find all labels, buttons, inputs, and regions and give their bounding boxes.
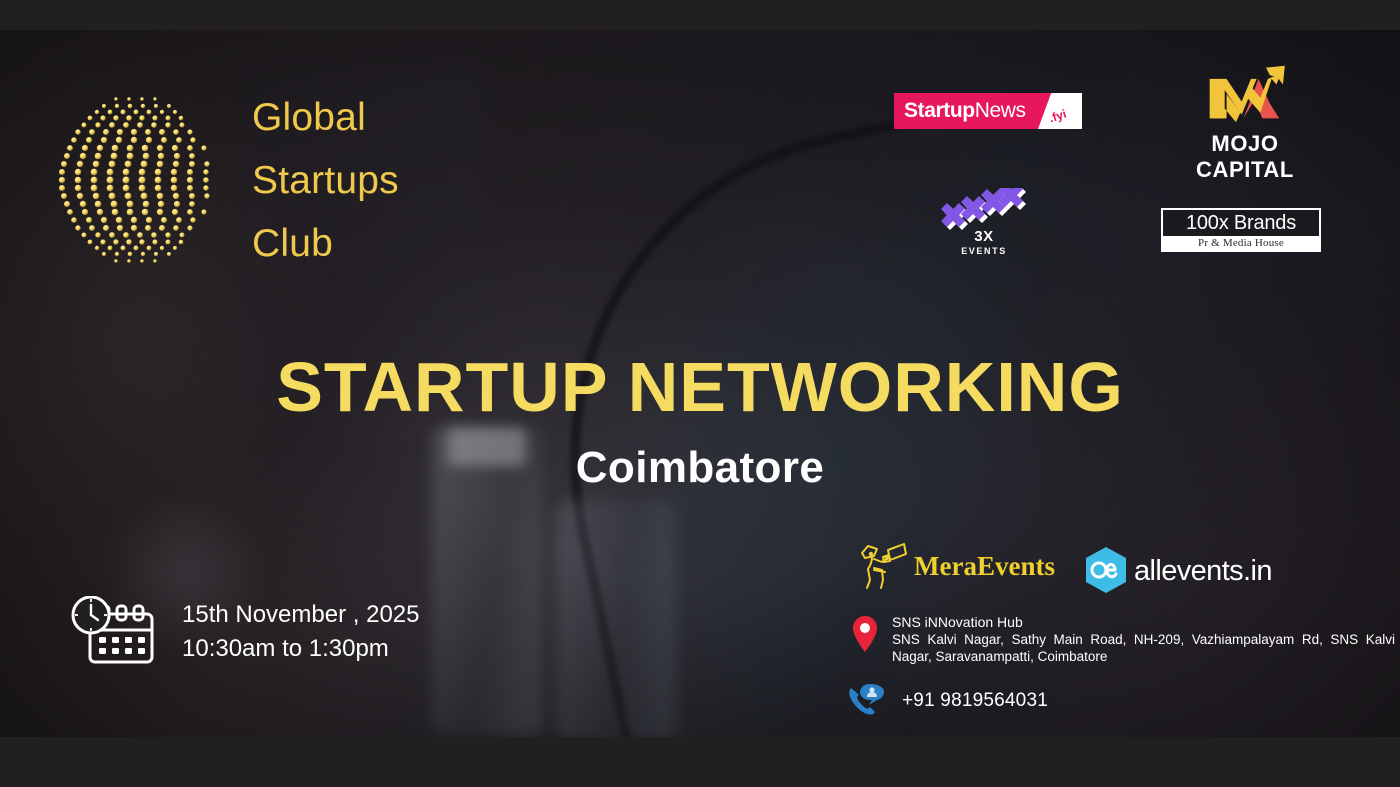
letterbox-top [0,0,1400,30]
sponsor-3x-events-logo: 3X EVENTS [934,188,1034,276]
venue-block: SNS iNNovation Hub SNS Kalvi Nagar, Sath… [850,614,1395,665]
startupnews-word-startup: Startup [904,99,975,122]
calendar-clock-icon [68,596,164,668]
dotted-globe-icon [40,85,230,275]
sponsor-mojo-capital-logo: MOJO CAPITAL [1160,62,1330,158]
mojo-capital-wordmark: MOJO CAPITAL [1160,131,1330,183]
meraevents-wordmark: MeraEvents [914,551,1055,582]
event-schedule-text: 15th November , 2025 10:30am to 1:30pm [182,598,419,666]
sponsor-100x-brands-logo: 100x Brands Pr & Media House [1161,208,1321,252]
letterbox-bottom [0,737,1400,787]
allevents-wordmark: allevents.in [1134,555,1272,588]
event-date: 15th November , 2025 [182,598,419,632]
venue-name: SNS iNNovation Hub [892,614,1395,631]
startupnews-word-news: News [975,99,1026,122]
startupnews-fyi-text: .fyi [1048,107,1069,126]
contact-phone-number: +91 9819564031 [902,690,1048,712]
meraevents-herald-icon [852,540,908,592]
100x-brands-wordmark: 100x Brands [1163,210,1319,236]
sponsor-startupnews-logo: StartupNews .fyi [894,93,1082,129]
event-time: 10:30am to 1:30pm [182,632,419,666]
3x-events-sub: EVENTS [934,246,1034,256]
partner-meraevents-logo: MeraEvents [852,540,1055,592]
brand-line-1: Global [252,86,452,149]
contact-block: +91 9819564031 [846,682,1048,720]
brand-lockup: Global Startups Club [40,80,420,280]
page-title: STARTUP NETWORKING [0,352,1400,422]
startupnews-fyi-badge: .fyi [1038,93,1082,129]
map-pin-icon [850,614,880,665]
venue-address: SNS Kalvi Nagar, Sathy Main Road, NH-209… [892,631,1395,665]
phone-support-icon [846,682,888,720]
brand-line-3: Club [252,212,452,275]
startupnews-wordmark: StartupNews [904,99,1026,123]
100x-brands-tagline: Pr & Media House [1163,236,1319,250]
page-subtitle-city: Coimbatore [0,446,1400,490]
event-poster: Global Startups Club StartupNews .fyi MO… [0,0,1400,787]
venue-text: SNS iNNovation Hub SNS Kalvi Nagar, Sath… [892,614,1395,665]
brand-line-2: Startups [252,149,452,212]
event-schedule: 15th November , 2025 10:30am to 1:30pm [68,596,419,668]
allevents-hexagon-icon [1082,545,1130,597]
partner-allevents-logo: allevents.in [1082,545,1272,597]
poster-foreground: Global Startups Club StartupNews .fyi MO… [0,0,1400,787]
brand-wordmark: Global Startups Club [252,86,452,275]
3x-events-name: 3X [934,228,1034,245]
mojo-arrow-mark [1189,62,1302,124]
